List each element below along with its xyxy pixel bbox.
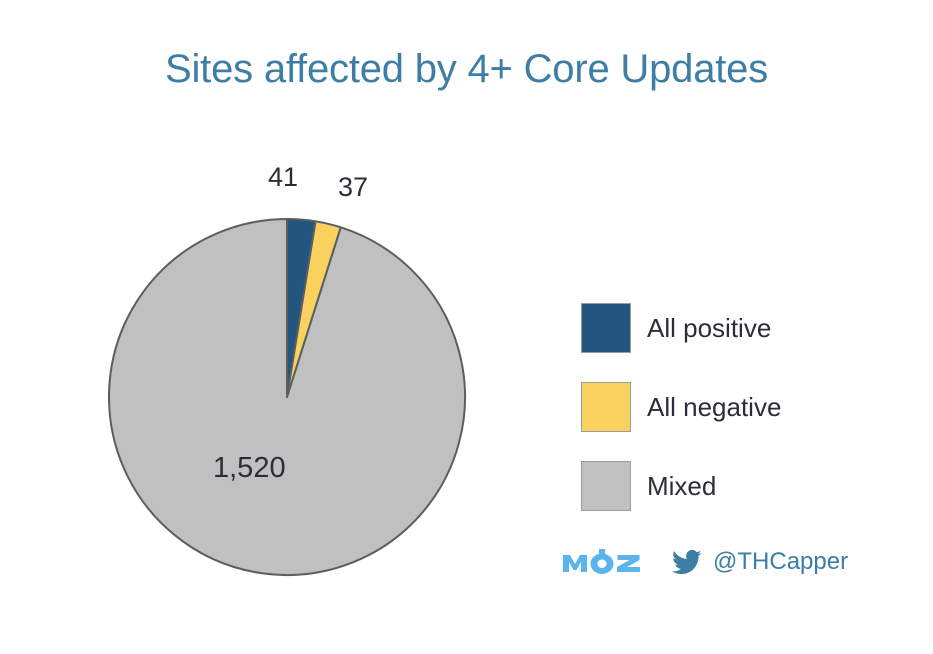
legend-swatch-mixed — [581, 461, 631, 511]
legend-swatch-all-negative — [581, 382, 631, 432]
pie-chart-figure: Sites affected by 4+ Core Updates 41 37 … — [0, 0, 933, 654]
moz-logo-icon — [562, 549, 646, 575]
legend-label-mixed: Mixed — [647, 473, 716, 499]
twitter-credit[interactable]: @THCapper — [672, 550, 848, 575]
legend-label-all-negative: All negative — [647, 394, 781, 420]
twitter-bird-icon — [672, 550, 702, 575]
footer-branding: @THCapper — [562, 549, 848, 575]
slice-value-mixed: 1,520 — [213, 452, 286, 485]
pie-chart-graphic — [100, 205, 480, 597]
legend-item-all-positive[interactable]: All positive — [581, 288, 881, 367]
legend-item-mixed[interactable]: Mixed — [581, 446, 881, 525]
twitter-handle-label: @THCapper — [713, 550, 848, 574]
pie-svg — [100, 205, 480, 597]
chart-legend: All positive All negative Mixed — [581, 288, 881, 525]
legend-item-all-negative[interactable]: All negative — [581, 367, 881, 446]
legend-swatch-all-positive — [581, 303, 631, 353]
legend-label-all-positive: All positive — [647, 315, 771, 341]
page-title: Sites affected by 4+ Core Updates — [0, 46, 933, 92]
slice-value-all-negative: 37 — [338, 172, 368, 203]
slice-value-all-positive: 41 — [268, 162, 298, 193]
